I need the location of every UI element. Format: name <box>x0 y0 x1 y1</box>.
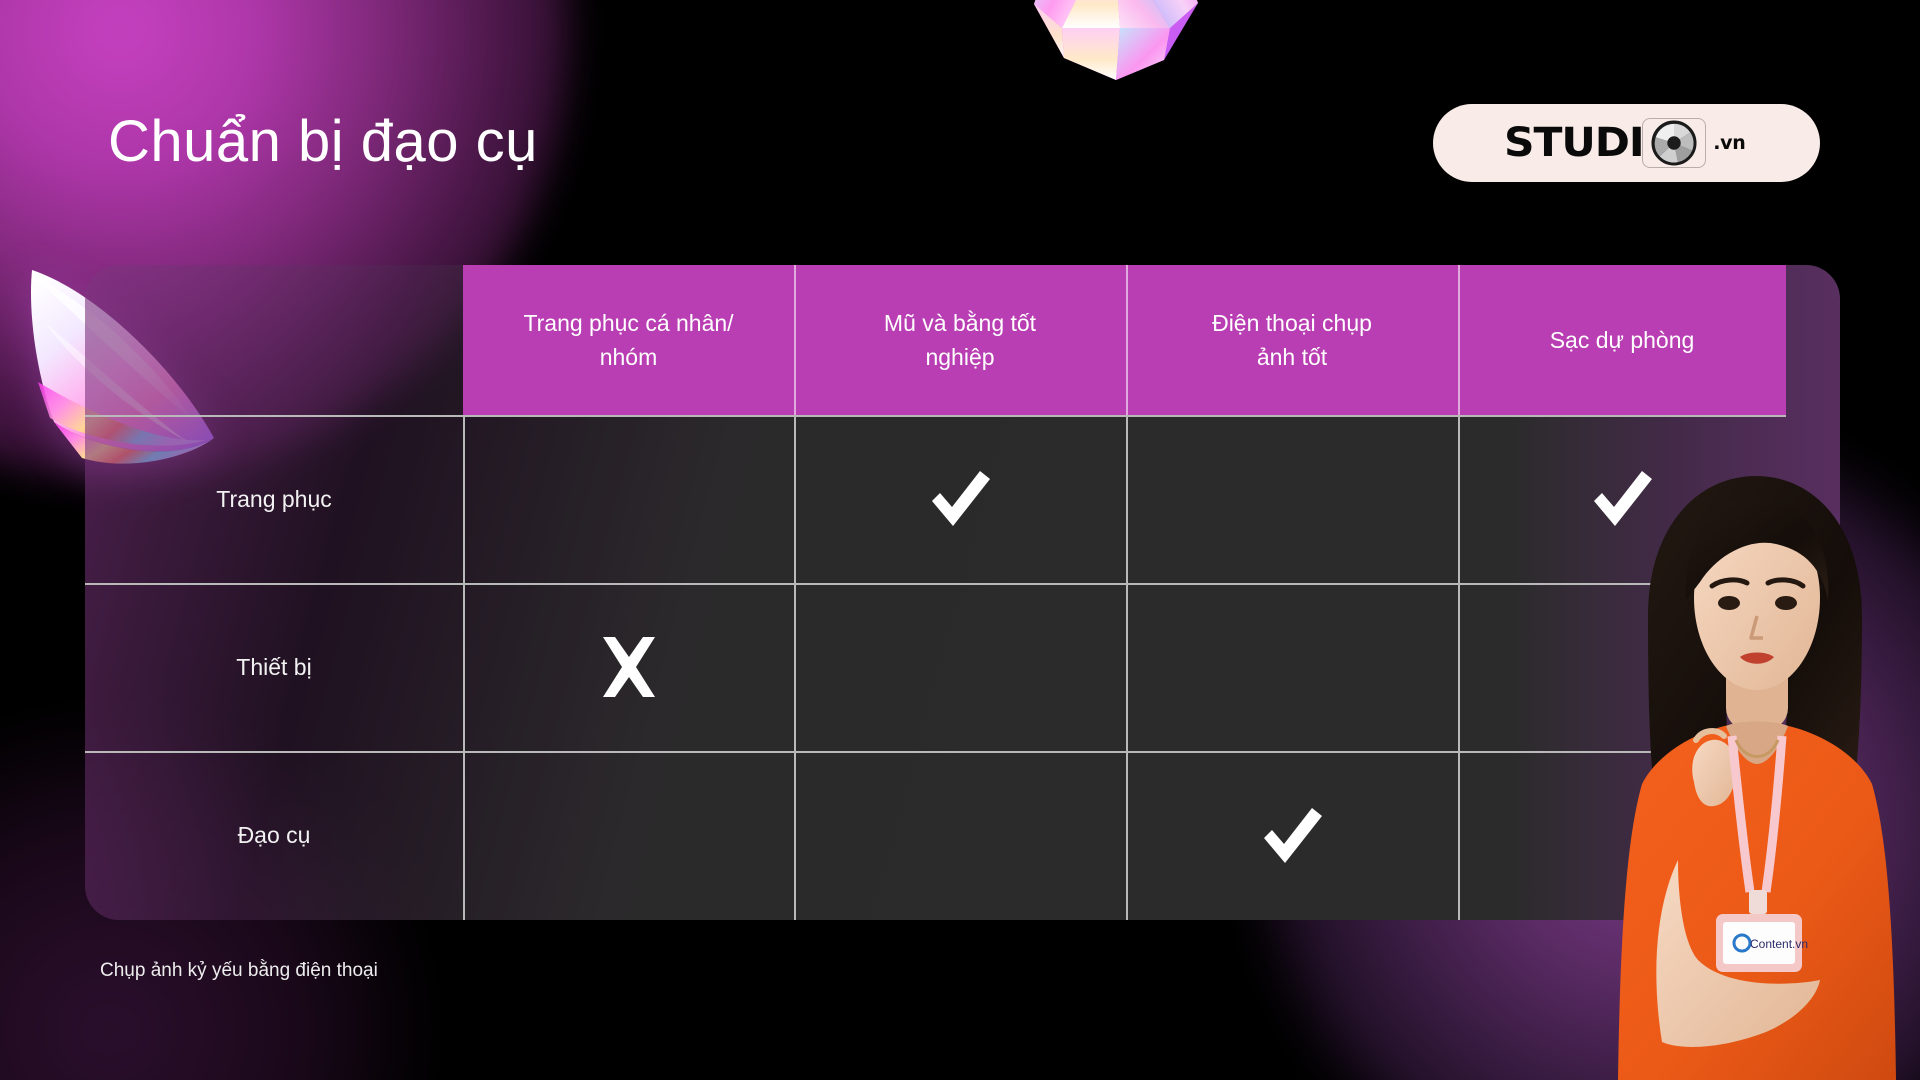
row-label-0: Trang phục <box>85 415 463 583</box>
column-header-3-line1: Sạc dự phòng <box>1550 327 1695 353</box>
column-header-0-line2: nhóm <box>600 344 658 370</box>
cell-r0c2 <box>1126 415 1458 583</box>
column-header-0: Trang phục cá nhân/ nhóm <box>463 265 794 415</box>
column-header-0-line1: Trang phục cá nhân/ <box>523 310 733 336</box>
comparison-table: Trang phục cá nhân/ nhóm Mũ và bằng tốt … <box>85 265 1840 920</box>
column-header-2-line2: ảnh tốt <box>1257 344 1327 370</box>
logo-tld: .vn <box>1713 132 1745 154</box>
column-header-2: Điện thoại chụp ảnh tốt <box>1126 265 1458 415</box>
row-label-1: Thiết bị <box>85 583 463 751</box>
table-corner-cell <box>85 265 463 415</box>
column-header-1-line2: nghiệp <box>925 344 994 370</box>
page-title: Chuẩn bị đạo cụ <box>108 108 538 175</box>
cross-icon <box>593 631 665 703</box>
studio-logo[interactable]: STUDI .vn <box>1433 104 1820 182</box>
cell-r2c3 <box>1458 751 1786 920</box>
cell-r1c1 <box>794 583 1126 751</box>
column-header-3: Sạc dự phòng <box>1458 265 1786 415</box>
cell-r2c1 <box>794 751 1126 920</box>
cell-r1c0 <box>463 583 794 751</box>
cell-r1c2 <box>1126 583 1458 751</box>
check-icon <box>1256 800 1328 872</box>
column-header-1: Mũ và bằng tốt nghiệp <box>794 265 1126 415</box>
cell-r0c1 <box>794 415 1126 583</box>
column-header-2-line1: Điện thoại chụp <box>1212 310 1372 336</box>
logo-wordmark: STUDI <box>1504 123 1644 163</box>
cell-r0c3 <box>1458 415 1786 583</box>
footer-note: Chụp ảnh kỷ yếu bằng điện thoại <box>100 960 378 982</box>
check-icon <box>1586 463 1658 535</box>
check-icon <box>924 463 996 535</box>
row-label-2: Đạo cụ <box>85 751 463 920</box>
cell-r0c0 <box>463 415 794 583</box>
column-header-1-line1: Mũ và bằng tốt <box>884 310 1036 336</box>
cell-r2c0 <box>463 751 794 920</box>
camera-aperture-icon <box>1642 118 1706 168</box>
cell-r2c2 <box>1126 751 1458 920</box>
cell-r1c3 <box>1458 583 1786 751</box>
